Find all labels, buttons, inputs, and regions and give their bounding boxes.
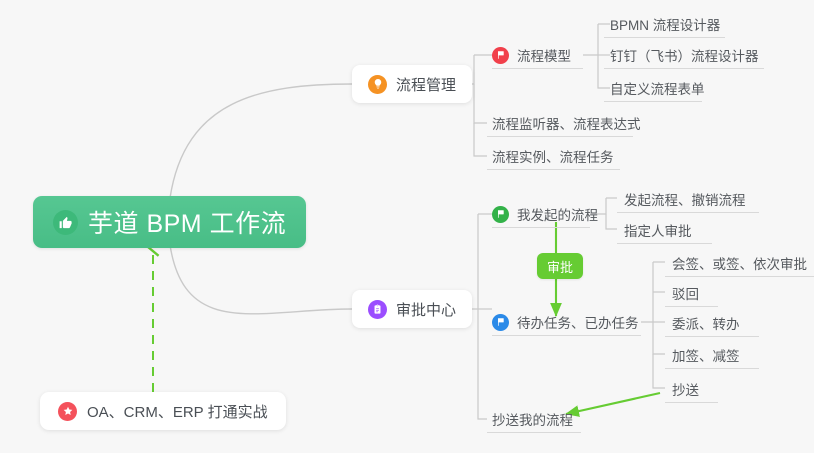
callout-label: OA、CRM、ERP 打通实战 [87,401,268,422]
underline [665,368,759,369]
thumbs-up-icon [53,210,78,235]
flag-green-icon [492,206,509,223]
link-root-to-process-management [170,84,352,198]
leaf-label: 发起流程、撤销流程 [624,189,746,209]
leaf-label: 自定义流程表单 [610,78,705,98]
leaf-delegate-transfer[interactable]: 委派、转办 [672,310,740,336]
leaf-custom-form[interactable]: 自定义流程表单 [610,75,705,101]
root-label: 芋道 BPM 工作流 [88,204,286,240]
leaf-start-cancel-process[interactable]: 发起流程、撤销流程 [624,186,746,212]
underline [492,227,590,228]
mindmap-canvas: 芋道 BPM 工作流 流程管理 流程模型 BPMN 流程设计器 钉钉（飞书）流程… [0,0,814,453]
leaf-add-remove-sign[interactable]: 加签、减签 [672,342,740,368]
leaf-process-instance[interactable]: 流程实例、流程任务 [492,143,614,169]
flag-red-icon [492,47,509,64]
leaf-label: 指定人审批 [624,220,692,240]
underline [487,136,633,137]
flag-blue-icon [492,314,509,331]
underline [604,37,725,38]
leaf-label: 抄送 [672,379,699,399]
branch-label: 审批中心 [396,299,456,320]
underline [492,335,641,336]
link-pm-to-listener [474,84,487,123]
link-pm-to-instance [474,123,487,156]
leaf-dingtalk-designer[interactable]: 钉钉（飞书）流程设计器 [610,42,759,68]
leaf-label: 钉钉（飞书）流程设计器 [610,45,759,65]
leaf-countersign[interactable]: 会签、或签、依次审批 [672,250,807,276]
underline [665,402,718,403]
link-todo-trunk [641,262,653,322]
node-my-initiated[interactable]: 我发起的流程 [492,201,602,227]
branch-label: 流程管理 [396,74,456,95]
underline [617,243,712,244]
underline [665,306,718,307]
branch-approval-center[interactable]: 审批中心 [352,290,472,328]
node-label: 流程模型 [517,45,571,65]
node-label: 待办任务、已办任务 [517,312,639,332]
leaf-reject[interactable]: 驳回 [672,280,699,306]
leaf-label: 流程实例、流程任务 [492,146,614,166]
clipboard-icon [368,300,387,319]
node-process-model[interactable]: 流程模型 [492,42,575,68]
star-icon [58,402,77,421]
leaf-cc-to-me[interactable]: 抄送我的流程 [492,406,573,432]
leaf-label: 抄送我的流程 [492,409,573,429]
node-label: 我发起的流程 [517,204,598,224]
approval-badge: 审批 [537,253,583,279]
link-model-trunk [583,24,598,55]
underline [665,276,814,277]
link-ac-to-cc [478,309,487,419]
underline [617,212,759,213]
node-todo-done-tasks[interactable]: 待办任务、已办任务 [492,309,643,335]
underline [604,68,764,69]
leaf-bpmn-designer[interactable]: BPMN 流程设计器 [610,11,720,37]
link-mine-to-assign [606,214,617,229]
leaf-process-listener[interactable]: 流程监听器、流程表达式 [492,110,641,136]
lightbulb-icon [368,75,387,94]
underline [487,432,581,433]
underline [492,68,583,69]
link-todo-to-cc [653,354,665,388]
leaf-label: BPMN 流程设计器 [610,14,720,34]
leaf-label: 驳回 [672,283,699,303]
link-todo-to-addsign [653,322,665,354]
root-node[interactable]: 芋道 BPM 工作流 [33,196,306,248]
underline [665,336,759,337]
leaf-label: 加签、减签 [672,345,740,365]
leaf-label: 会签、或签、依次审批 [672,253,807,273]
underline [604,101,702,102]
leaf-label: 流程监听器、流程表达式 [492,113,641,133]
leaf-cc[interactable]: 抄送 [672,376,699,402]
callout-integration[interactable]: OA、CRM、ERP 打通实战 [40,392,286,430]
branch-process-management[interactable]: 流程管理 [352,65,472,103]
link-model-to-form [598,55,610,88]
link-root-to-approval-center [170,245,352,314]
underline [487,169,620,170]
leaf-assignee-approval[interactable]: 指定人审批 [624,217,692,243]
annotation-arrow-cc [566,393,660,414]
leaf-label: 委派、转办 [672,313,740,333]
